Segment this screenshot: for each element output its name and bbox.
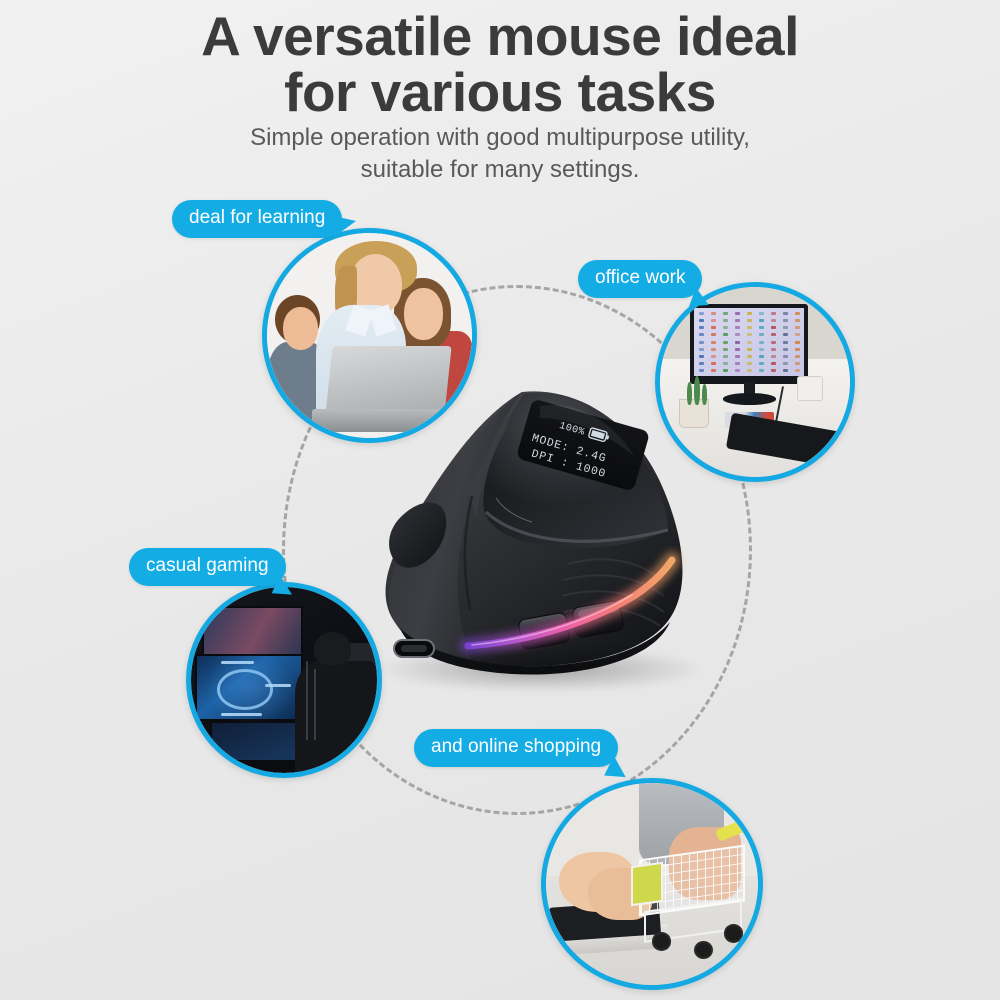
desktop-icon [795, 333, 800, 336]
monitor-screen [694, 308, 804, 376]
keyboard-key [757, 433, 758, 437]
desktop-icon [699, 333, 704, 336]
callout-label-gaming[interactable]: casual gaming [129, 548, 286, 586]
desktop-icon [783, 369, 788, 372]
callout-label-shopping[interactable]: and online shopping [414, 729, 618, 767]
desktop-icon [699, 348, 704, 351]
keyboard-key [767, 435, 768, 439]
product-shadow [380, 646, 700, 692]
keyboard-key [831, 446, 832, 450]
desktop-icon [771, 326, 776, 329]
callout-label-text: casual gaming [146, 555, 269, 576]
callout-label-office[interactable]: office work [578, 260, 702, 298]
photo-shopping [546, 783, 758, 985]
keyboard-key [769, 429, 770, 433]
photo-circle-gaming [186, 582, 382, 778]
desktop-icon [735, 333, 740, 336]
keyboard-key [735, 436, 736, 440]
girl-head [404, 288, 443, 339]
cart-wheel [724, 924, 743, 942]
desktop-icon [783, 319, 788, 322]
desktop-icon [723, 348, 728, 351]
desktop-icon [735, 348, 740, 351]
desktop-icon [735, 355, 740, 358]
desktop-icon [711, 319, 716, 322]
desktop-icon [747, 355, 752, 358]
desktop-icon [771, 355, 776, 358]
keyboard-key [787, 451, 788, 455]
desktop-icon [747, 319, 752, 322]
cart-wheel [652, 932, 671, 950]
keyboard-key [744, 444, 745, 448]
page-subtitle: Simple operation with good multipurpose … [0, 122, 1000, 185]
desktop-icon [795, 326, 800, 329]
desktop-icon [759, 326, 764, 329]
desktop-icon [783, 312, 788, 315]
keyboard-key [823, 433, 824, 437]
desktop-icon [783, 326, 788, 329]
keyboard-key [779, 431, 780, 435]
desktop-icon [723, 319, 728, 322]
desktop-icon [711, 341, 716, 344]
desktop-icon [795, 362, 800, 365]
callout-label-text: and online shopping [431, 736, 601, 757]
desktop-icon [723, 355, 728, 358]
photo-gaming [191, 587, 377, 773]
keyboard-key [801, 429, 802, 433]
keyboard-key [818, 457, 819, 461]
desktop-icon [795, 312, 800, 315]
keyboard-key [770, 423, 771, 427]
monitor-glow [206, 650, 295, 724]
keyboard-key [791, 427, 792, 431]
gaming-wire [306, 661, 308, 739]
gamer-head [314, 632, 351, 665]
keyboard-key [830, 453, 831, 457]
desktop-icon [699, 319, 704, 322]
desktop-icon [747, 348, 752, 351]
desktop-icon [723, 333, 728, 336]
desktop-icon [711, 348, 716, 351]
desktop-icon [723, 341, 728, 344]
scene-shopping [546, 783, 758, 985]
desktop-icon [747, 312, 752, 315]
desktop-icon [711, 326, 716, 329]
desktop-icon-grid [699, 312, 800, 372]
keyboard-key [790, 433, 791, 437]
keyboard-key [788, 445, 789, 449]
desktop-icon [771, 362, 776, 365]
desktop-icon [747, 341, 752, 344]
desktop-icon [771, 333, 776, 336]
desk-speaker [797, 376, 824, 401]
keyboard-key [812, 431, 813, 435]
callout-label-text: office work [595, 267, 685, 288]
keyboard-key [833, 434, 834, 438]
keyboard-key [832, 440, 833, 444]
keyboard-key [789, 439, 790, 443]
keyboard-key [797, 453, 798, 457]
desktop-icon [723, 326, 728, 329]
scene-gaming [191, 587, 377, 773]
keyboard-key [841, 454, 842, 458]
keyboard-key [829, 459, 830, 463]
desktop-icon [699, 355, 704, 358]
keyboard-key [843, 442, 844, 446]
product-image-vertical-mouse: 100% MODE: 2.4G DPI : 1000 [372, 378, 712, 708]
gaming-wire [314, 669, 316, 740]
keyboard-key [819, 451, 820, 455]
desktop-icon [699, 369, 704, 372]
desktop-icon [699, 362, 704, 365]
keyboard-key [809, 449, 810, 453]
keyboard-key [808, 455, 809, 459]
subheading-line-1: Simple operation with good multipurpose … [250, 124, 750, 151]
desktop-icon [711, 333, 716, 336]
desktop-icon [747, 362, 752, 365]
desktop-icon [735, 326, 740, 329]
keyboard-key [766, 441, 767, 445]
desktop-icon [735, 362, 740, 365]
subheading-line-2: suitable for many settings. [0, 154, 1000, 186]
keyboard-key [759, 421, 760, 425]
desktop-icon [735, 341, 740, 344]
desktop-icon [699, 312, 704, 315]
desktop-icon [747, 369, 752, 372]
keyboard-key [844, 436, 845, 440]
keyboard-key [842, 448, 843, 452]
desktop-icon [783, 348, 788, 351]
desktop-icon [795, 355, 800, 358]
keyboard-key [738, 418, 739, 422]
desktop-icon [723, 362, 728, 365]
desktop-icon [759, 319, 764, 322]
keyboard-key [745, 438, 746, 442]
desktop-icon [759, 348, 764, 351]
desktop-icon [711, 312, 716, 315]
desktop-icon [795, 348, 800, 351]
desktop-icon [711, 355, 716, 358]
photo-circle-shopping [541, 778, 763, 990]
desktop-icon [735, 369, 740, 372]
desktop-icon [699, 341, 704, 344]
desktop-icon [771, 369, 776, 372]
keyboard-key [756, 439, 757, 443]
keyboard-key [746, 432, 747, 436]
keyboard-key [810, 443, 811, 447]
keyboard-key [755, 445, 756, 449]
desktop-icon [795, 341, 800, 344]
desktop-icon [783, 333, 788, 336]
desktop-icon [783, 341, 788, 344]
desktop-icon [771, 348, 776, 351]
headline-line-1: A versatile mouse ideal [201, 5, 799, 67]
desktop-icon [783, 362, 788, 365]
keyboard-key [777, 443, 778, 447]
desktop-icon [759, 333, 764, 336]
keyboard-key [736, 430, 737, 434]
keyboard-key [737, 424, 738, 428]
desktop-icon [759, 312, 764, 315]
keyboard-key [822, 439, 823, 443]
cart-wheel [694, 941, 713, 959]
desktop-icon [759, 341, 764, 344]
keyboard-key [780, 425, 781, 429]
keyboard-key [800, 435, 801, 439]
desktop-icon [711, 362, 716, 365]
desktop-icon [795, 319, 800, 322]
keyboard-key [820, 445, 821, 449]
keyboard-key [840, 460, 841, 464]
keyboard-key [778, 437, 779, 441]
shopping-cart-front-flap [631, 862, 663, 907]
keyboard-key [747, 425, 748, 429]
desktop-icon [699, 326, 704, 329]
desktop-icon [783, 355, 788, 358]
keyboard-key [798, 447, 799, 451]
keyboard-key [765, 447, 766, 451]
desktop-icon [711, 369, 716, 372]
desktop-icon [759, 369, 764, 372]
monitor-stand-base [723, 393, 776, 404]
desktop-icon [747, 333, 752, 336]
desktop-icon [759, 355, 764, 358]
desktop-icon [747, 326, 752, 329]
product-infographic: A versatile mouse ideal for various task… [0, 0, 1000, 1000]
desktop-icon [759, 362, 764, 365]
desktop-icon [771, 341, 776, 344]
headline-line-2: for various tasks [0, 64, 1000, 120]
desktop-icon [723, 312, 728, 315]
keyboard-key [748, 419, 749, 423]
keyboard-key [733, 442, 734, 446]
gaming-monitor-bottom [210, 721, 303, 762]
desktop-icon [723, 369, 728, 372]
desktop-icon [795, 369, 800, 372]
callout-label-learning[interactable]: deal for learning [172, 200, 342, 238]
desktop-icon [771, 312, 776, 315]
desktop-icon [735, 312, 740, 315]
callout-label-text: deal for learning [189, 207, 325, 228]
keyboard-key [811, 437, 812, 441]
keyboard-key [776, 449, 777, 453]
page-title: A versatile mouse ideal for various task… [0, 8, 1000, 120]
keyboard-key [799, 441, 800, 445]
keyboard-key [758, 427, 759, 431]
boy-head [283, 307, 318, 350]
desktop-icon [735, 319, 740, 322]
desktop-icon [771, 319, 776, 322]
callout-pointer-icon [334, 216, 356, 237]
